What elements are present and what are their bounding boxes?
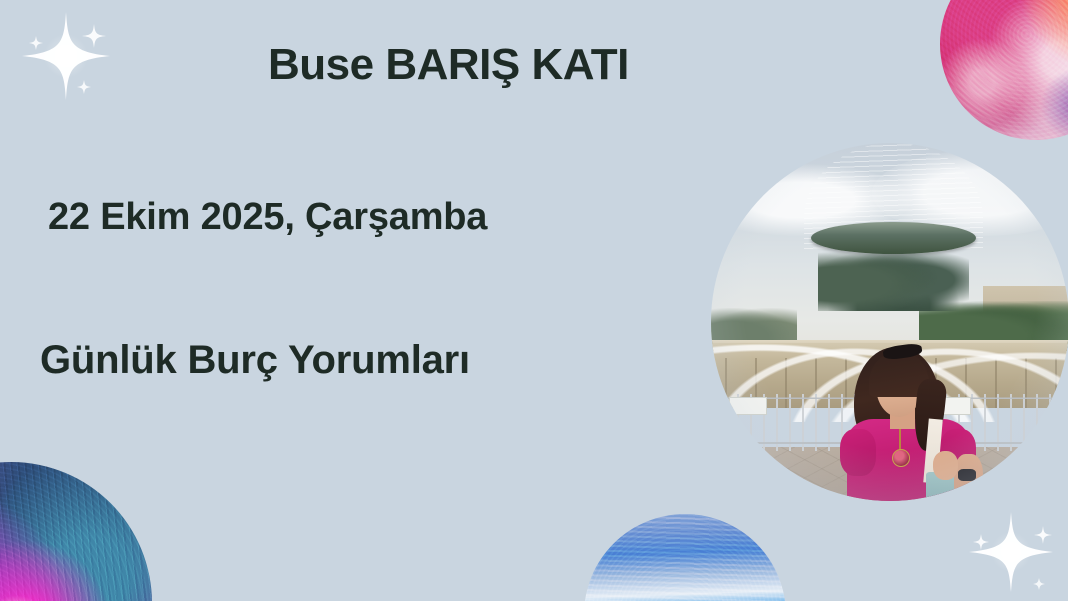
galaxy-watercolor-circle xyxy=(0,462,152,601)
page-title: Buse BARIŞ KATI xyxy=(268,40,629,90)
sparkle-icon xyxy=(18,8,138,123)
sparkle-icon xyxy=(955,500,1065,601)
poster-canvas: Buse BARIŞ KATI 22 Ekim 2025, Çarşamba G… xyxy=(0,0,1068,601)
photo-vignette xyxy=(711,143,1068,501)
date-text: 22 Ekim 2025, Çarşamba xyxy=(48,196,487,239)
blue-watercolor-circle xyxy=(584,514,786,601)
subtitle-text: Günlük Burç Yorumları xyxy=(40,338,470,383)
profile-photo xyxy=(711,143,1068,501)
pink-watercolor-circle xyxy=(940,0,1068,140)
